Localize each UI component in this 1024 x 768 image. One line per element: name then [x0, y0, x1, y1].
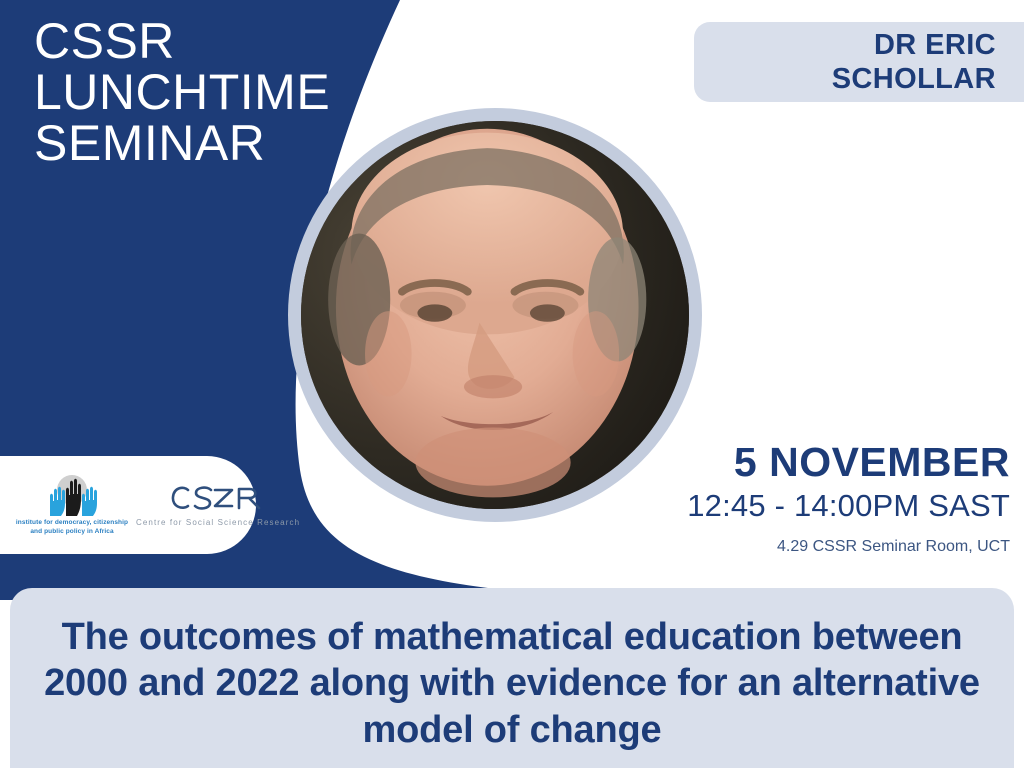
- idcppa-logo-text: institute for democracy, citizenship and…: [14, 519, 130, 537]
- event-venue: 4.29 CSSR Seminar Room, UCT: [680, 537, 1010, 558]
- speaker-portrait-ring: [288, 108, 702, 522]
- cssr-wordmark-icon: [168, 482, 268, 514]
- seminar-poster: CSSR LUNCHTIME SEMINAR DR ERIC SCHOLLAR: [0, 0, 1024, 768]
- event-date: 5 NOVEMBER: [680, 440, 1010, 485]
- speaker-name-line-2: SCHOLLAR: [832, 62, 996, 96]
- headline-line-3: SEMINAR: [34, 118, 330, 169]
- headline-line-1: CSSR: [34, 16, 330, 67]
- speaker-name-line-1: DR ERIC: [874, 28, 996, 62]
- speaker-name-badge: DR ERIC SCHOLLAR: [694, 22, 1024, 102]
- idcppa-logo: institute for democracy, citizenship and…: [14, 473, 130, 537]
- raised-hands-icon: [41, 473, 103, 517]
- event-time: 12:45 - 14:00PM SAST: [680, 487, 1010, 526]
- seminar-title-panel: The outcomes of mathematical education b…: [10, 588, 1014, 768]
- event-details: 5 NOVEMBER 12:45 - 14:00PM SAST 4.29 CSS…: [680, 440, 1010, 558]
- headline-line-2: LUNCHTIME: [34, 67, 330, 118]
- logo-bar: institute for democracy, citizenship and…: [0, 456, 256, 554]
- cssr-logo: Centre for Social Science Research: [136, 482, 300, 529]
- speaker-portrait-photo: [301, 121, 689, 509]
- seminar-title: The outcomes of mathematical education b…: [40, 614, 984, 753]
- poster-headline: CSSR LUNCHTIME SEMINAR: [34, 16, 330, 169]
- cssr-logo-text: Centre for Social Science Research: [136, 517, 300, 529]
